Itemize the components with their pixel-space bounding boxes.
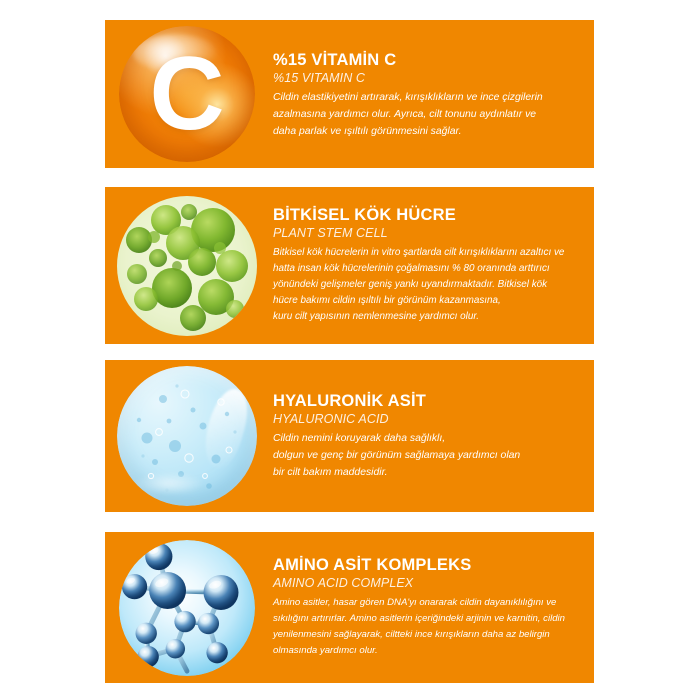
body-line: hücre bakımı cildin ışıltılı bir görünüm… [273,293,574,309]
amino-acid-molecule-image [119,540,255,676]
panel-body-plant-stem-cell: Bitkisel kök hücrelerin in vitro şartlar… [273,245,574,325]
cell-cluster-graphic [117,196,257,336]
panel-media-vitamin-c: C [105,20,269,168]
body-line: yenilenmesini sağlayarak, ciltteki ince … [273,627,574,643]
panel-subtitle-vitamin-c: %15 VITAMIN C [273,71,574,86]
body-line: Cildin nemini koruyarak daha sağlıklı, [273,431,574,448]
panel-body-hyaluronic-acid: Cildin nemini koruyarak daha sağlıklı, d… [273,431,574,482]
panel-title-amino-acid-complex: AMİNO ASİT KOMPLEKS [273,556,574,575]
panel-text-plant-stem-cell: BİTKİSEL KÖK HÜCRE PLANT STEM CELL Bitki… [273,187,580,344]
body-line: Amino asitler, hasar gören DNA'yı onarar… [273,595,574,611]
panel-subtitle-plant-stem-cell: PLANT STEM CELL [273,226,574,241]
body-line: hatta insan kök hücrelerinin çoğalmasını… [273,261,574,277]
ingredient-benefits-infographic: C %15 VİTAMİN C %15 VITAMIN C Cildin ela… [0,0,700,700]
body-line: azalmasına yardımcı olur. Ayrıca, cilt t… [273,107,574,124]
plant-stem-cell-micrograph-image [117,196,257,336]
panel-subtitle-hyaluronic-acid: HYALURONIC ACID [273,412,574,427]
body-line: Bitkisel kök hücrelerin in vitro şartlar… [273,245,574,261]
panel-title-plant-stem-cell: BİTKİSEL KÖK HÜCRE [273,206,574,225]
panel-text-amino-acid-complex: AMİNO ASİT KOMPLEKS AMINO ACID COMPLEX A… [273,532,580,683]
ingredient-panel-hyaluronic-acid: HYALURONİK ASİT HYALURONIC ACID Cildin n… [105,360,594,512]
panel-media-hyaluronic-acid [105,360,269,512]
body-line: yönündeki gelişmeler geniş yankı uyandır… [273,277,574,293]
panel-text-hyaluronic-acid: HYALURONİK ASİT HYALURONIC ACID Cildin n… [273,360,580,512]
body-line: dolgun ve genç bir görünüm sağlamaya yar… [273,448,574,465]
body-line: olmasında yardımcı olur. [273,643,574,659]
panel-text-vitamin-c: %15 VİTAMİN C %15 VITAMIN C Cildin elast… [273,20,580,168]
ingredient-panel-vitamin-c: C %15 VİTAMİN C %15 VITAMIN C Cildin ela… [105,20,594,168]
panel-media-amino-acid-complex [105,532,269,683]
vitamin-c-letter: C [119,26,255,162]
body-line: Cildin elastikiyetini artırarak, kırışık… [273,90,574,107]
body-line: daha parlak ve ışıltılı görünmesini sağl… [273,124,574,141]
panel-body-vitamin-c: Cildin elastikiyetini artırarak, kırışık… [273,90,574,141]
gel-bubbles-graphic [117,366,257,506]
ingredient-panel-plant-stem-cell: BİTKİSEL KÖK HÜCRE PLANT STEM CELL Bitki… [105,187,594,344]
body-line: sıkılığını artırırlar. Amino asitlerin i… [273,611,574,627]
panel-body-amino-acid-complex: Amino asitler, hasar gören DNA'yı onarar… [273,595,574,659]
body-line: kuru cilt yapısının nemlenmesine yardımc… [273,309,574,325]
panel-subtitle-amino-acid-complex: AMINO ACID COMPLEX [273,576,574,591]
hyaluronic-acid-gel-droplet-image [117,366,257,506]
body-line: bir cilt bakım maddesidir. [273,465,574,482]
molecule-graphic [119,540,255,676]
panel-media-plant-stem-cell [105,187,269,344]
ingredient-panel-amino-acid-complex: AMİNO ASİT KOMPLEKS AMINO ACID COMPLEX A… [105,532,594,683]
panel-title-hyaluronic-acid: HYALURONİK ASİT [273,392,574,411]
panel-title-vitamin-c: %15 VİTAMİN C [273,51,574,70]
